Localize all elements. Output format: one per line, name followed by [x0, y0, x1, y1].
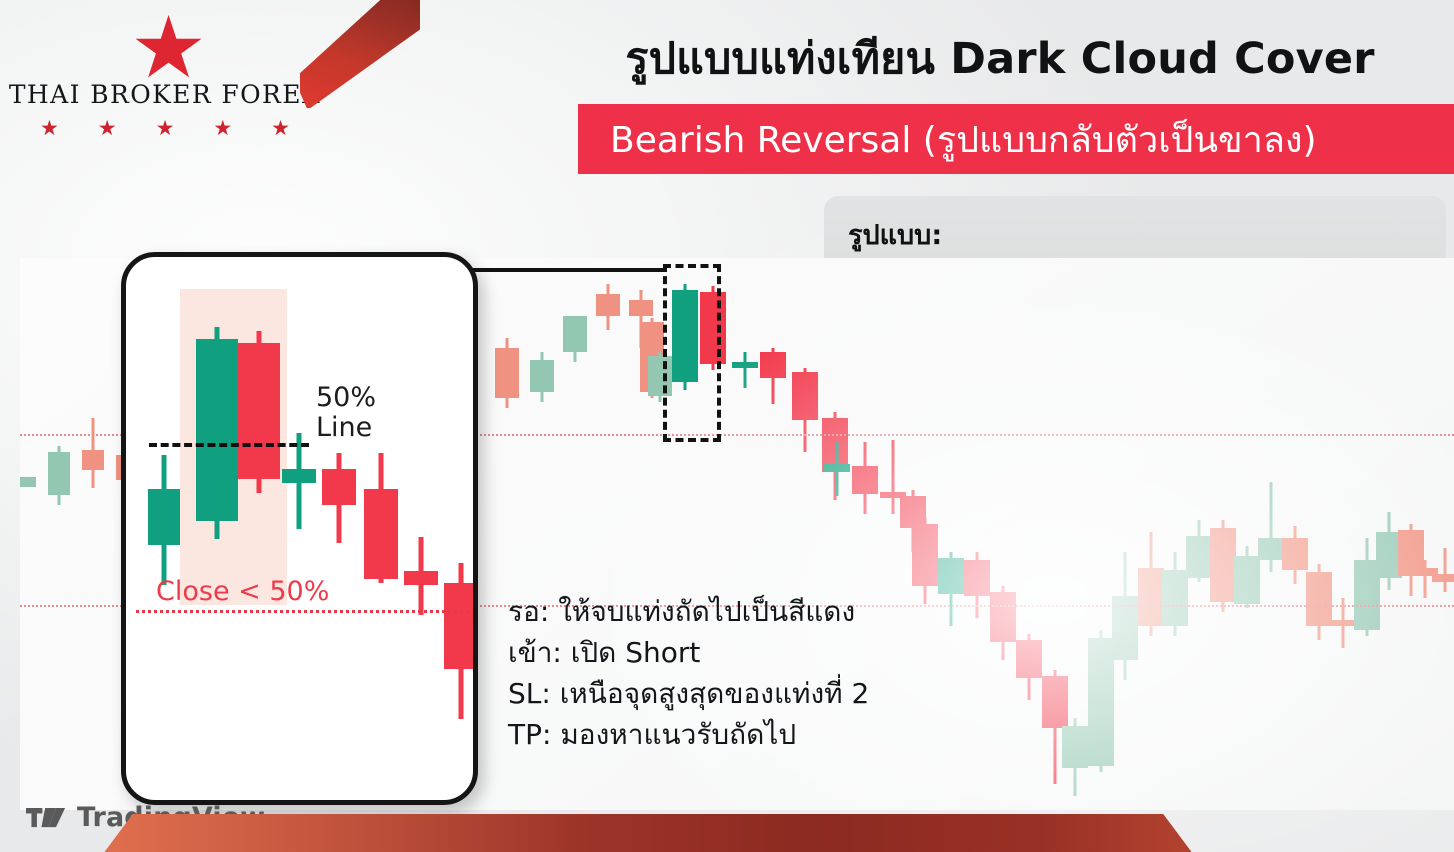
candle-body: [1210, 528, 1236, 602]
candle-body: [792, 372, 818, 420]
decorative-swoosh: [300, 0, 420, 108]
candle-body: [82, 450, 104, 470]
candle-body: [1330, 620, 1356, 626]
candle-body: [964, 560, 990, 596]
candle-body: [824, 464, 850, 472]
candle-body: [1062, 726, 1088, 768]
fifty-percent-line: [149, 443, 309, 447]
zoom-callout-panel: 50% Line Close < 50%: [121, 252, 478, 805]
candle-body: [404, 571, 438, 585]
candle-body: [1138, 568, 1164, 626]
candle-wick: [1444, 548, 1447, 592]
candle-body: [282, 469, 316, 483]
candle-body: [148, 489, 180, 545]
candlestick: [82, 258, 104, 810]
callout-candlestick: [364, 257, 398, 800]
header: ★ THAI BROKER FOREX ★ ★ ★ ★ ★ รูปแบบแท่ง…: [0, 0, 1454, 188]
brand-substars: ★ ★ ★ ★ ★: [40, 119, 290, 137]
candle-body: [990, 592, 1016, 642]
candle-body: [760, 352, 786, 378]
candlestick: [1062, 258, 1088, 810]
candlestick: [1088, 258, 1114, 810]
candle-body: [1162, 570, 1188, 626]
callout-support-line: [136, 610, 478, 613]
instruction-line: TP: มองหาแนวรับถัดไป: [508, 715, 928, 756]
star-icon: ★: [98, 119, 117, 137]
candle-body: [852, 466, 878, 494]
star-icon: ★: [130, 16, 200, 84]
callout-candlestick: [322, 257, 356, 800]
candlestick: [990, 258, 1016, 810]
candle-body: [48, 452, 70, 495]
candlestick: [48, 258, 70, 810]
candle-body: [1306, 572, 1332, 626]
candle-body: [563, 316, 587, 352]
callout-candlestick: [282, 257, 316, 800]
candle-body: [732, 362, 758, 368]
candlestick: [1282, 258, 1308, 810]
candle-body: [1432, 574, 1454, 582]
candlestick: [1258, 258, 1284, 810]
callout-candlestick: [196, 257, 238, 800]
callout-candlestick: [444, 257, 478, 800]
candle-body: [196, 339, 238, 521]
trade-instructions: รอ: ให้จบแท่งถัดไปเป็นสีแดง เข้า: เปิด S…: [508, 592, 928, 756]
instruction-line: รอ: ให้จบแท่งถัดไปเป็นสีแดง: [508, 592, 928, 633]
callout-connector-line: [470, 268, 666, 272]
candlestick: [1112, 258, 1138, 810]
callout-candlestick: [404, 257, 438, 800]
candlestick: [1306, 258, 1332, 810]
candle-body: [1234, 556, 1260, 604]
candlestick: [1210, 258, 1236, 810]
footer-bar: [0, 814, 1454, 852]
star-icon: ★: [271, 119, 290, 137]
instruction-line: เข้า: เปิด Short: [508, 633, 928, 674]
pattern-info-title: รูปแบบ:: [848, 213, 1426, 256]
candlestick: [1016, 258, 1042, 810]
fifty-percent-label: 50% Line: [316, 383, 376, 443]
pattern-highlight-box: [663, 264, 721, 442]
candle-body: [1088, 638, 1114, 766]
candlestick: [1186, 258, 1212, 810]
callout-candlestick: [238, 257, 280, 800]
candle-wick: [1424, 560, 1427, 598]
candle-body: [238, 343, 280, 479]
candle-body: [596, 294, 620, 316]
candle-wick: [892, 440, 895, 514]
candlestick: [964, 258, 990, 810]
candlestick: [1234, 258, 1260, 810]
candle-body: [1016, 640, 1042, 678]
candle-body: [1186, 536, 1212, 578]
subtitle-text: Bearish Reversal (รูปแบบกลับตัวเป็นขาลง): [610, 111, 1317, 168]
candlestick: [1432, 258, 1454, 810]
candlestick: [1162, 258, 1188, 810]
candle-body: [364, 489, 398, 579]
candlestick: [20, 258, 36, 810]
candle-body: [495, 348, 519, 398]
candlestick: [1138, 258, 1164, 810]
star-icon: ★: [40, 119, 59, 137]
close-below-fifty-label: Close < 50%: [156, 576, 329, 607]
candlestick: [938, 258, 964, 810]
candle-body: [912, 524, 938, 586]
candle-body: [530, 360, 554, 392]
candle-body: [938, 558, 964, 594]
candle-body: [20, 477, 36, 487]
candle-body: [1282, 538, 1308, 570]
page-title: รูปแบบแท่งเทียน Dark Cloud Cover: [570, 24, 1430, 86]
star-icon: ★: [156, 119, 175, 137]
callout-candlestick: [148, 257, 180, 800]
candle-wick: [744, 352, 747, 388]
brand-logo: ★ THAI BROKER FOREX ★ ★ ★ ★ ★: [0, 0, 330, 150]
footer-shape: [88, 814, 1208, 852]
candle-body: [444, 583, 478, 669]
candle-body: [322, 469, 356, 505]
star-icon: ★: [213, 119, 232, 137]
candlestick: [1330, 258, 1356, 810]
instruction-line: SL: เหนือจุดสูงสุดของแท่งที่ 2: [508, 674, 928, 715]
subtitle-banner: Bearish Reversal (รูปแบบกลับตัวเป็นขาลง): [578, 104, 1454, 174]
candle-body: [1258, 538, 1284, 560]
